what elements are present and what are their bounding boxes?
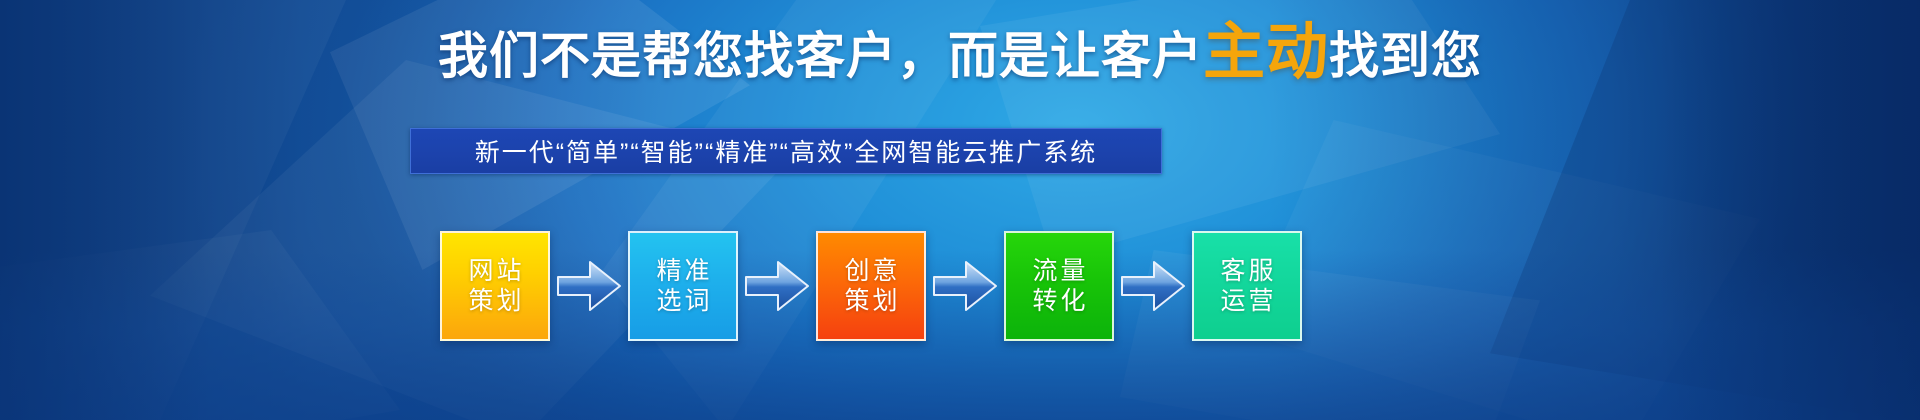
flow-step-website-planning[interactable]: 网站 策划 xyxy=(440,231,550,341)
promo-banner: 我们不是帮您找客户，而是让客户主动找到您 新一代“简单”“智能”“精准”“高效”… xyxy=(0,0,1920,420)
headline-accent: 主动 xyxy=(1203,18,1329,87)
headline-part-1: 我们不是帮您找客户，而是让客户 xyxy=(438,28,1203,84)
flow-step-line-2: 运营 xyxy=(1217,286,1276,317)
headline-part-2: 找到您 xyxy=(1329,28,1482,84)
arrow-right-icon-2 xyxy=(744,257,810,315)
headline: 我们不是帮您找客户，而是让客户主动找到您 xyxy=(0,22,1920,84)
arrow-right-icon-4 xyxy=(1120,257,1186,315)
process-flow: 网站 策划 精准 选词 xyxy=(440,226,1240,346)
flow-step-line-1: 网站 xyxy=(465,256,524,287)
arrow-right-icon-1 xyxy=(556,257,622,315)
subtitle-bar: 新一代“简单”“智能”“精准”“高效”全网智能云推广系统 xyxy=(410,128,1162,174)
subtitle-text: 新一代“简单”“智能”“精准”“高效”全网智能云推广系统 xyxy=(475,133,1098,169)
flow-step-service-operation[interactable]: 客服 运营 xyxy=(1192,231,1302,341)
flow-step-keyword-selection[interactable]: 精准 选词 xyxy=(628,231,738,341)
flow-step-line-1: 精准 xyxy=(653,256,712,287)
flow-step-line-2: 选词 xyxy=(653,286,712,317)
flow-step-line-1: 客服 xyxy=(1217,256,1276,287)
flow-step-creative-planning[interactable]: 创意 策划 xyxy=(816,231,926,341)
flow-step-line-2: 策划 xyxy=(841,286,900,317)
arrow-right-icon-3 xyxy=(932,257,998,315)
flow-step-traffic-conversion[interactable]: 流量 转化 xyxy=(1004,231,1114,341)
flow-step-line-1: 创意 xyxy=(841,256,900,287)
flow-step-line-2: 策划 xyxy=(465,286,524,317)
flow-step-line-2: 转化 xyxy=(1029,286,1088,317)
flow-step-line-1: 流量 xyxy=(1029,256,1088,287)
